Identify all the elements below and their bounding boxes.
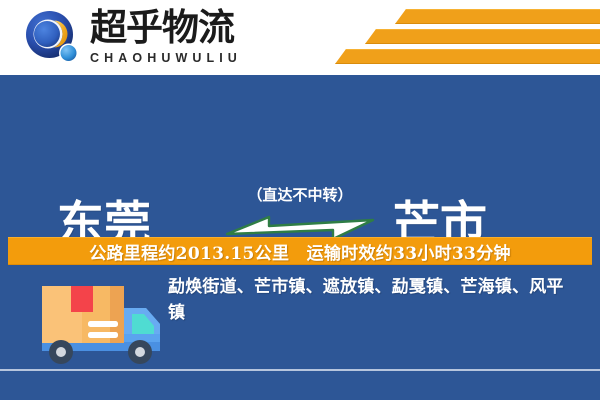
distance-duration-text: 公路里程约2013.15公里 运输时效约33小时33分钟 [89,239,511,264]
brand-text-block: 超乎物流 CHAOHUWULIU [90,7,242,65]
brand-name-cn: 超乎物流 [90,7,242,49]
coverage-section: 勐焕街道、芒市镇、遮放镇、勐戛镇、芒海镇、风平镇 [0,268,600,368]
brand-logo[interactable]: 超乎物流 CHAOHUWULIU [24,7,274,69]
circle-crescent-logo-icon [24,9,82,67]
covered-towns-text: 勐焕街道、芒市镇、遮放镇、勐戛镇、芒海镇、风平镇 [168,274,568,326]
stripe-2 [365,29,600,44]
stripe-3 [335,49,600,64]
delivery-truck-icon [28,274,168,366]
header-bar: 超乎物流 CHAOHUWULIU [0,0,600,75]
stripe-1 [395,9,600,24]
bottom-divider [0,369,600,371]
brand-name-en: CHAOHUWULIU [90,51,242,65]
distance-duration-bar: 公路里程约2013.15公里 运输时效约33小时33分钟 [8,237,592,265]
direct-route-note: （直达不中转） [225,185,375,205]
logistics-route-banner: 超乎物流 CHAOHUWULIU 东莞 （直达不中转） 【往返运输】 芒市 公路… [0,0,600,400]
route-band: 东莞 （直达不中转） 【往返运输】 芒市 [0,75,600,235]
orange-stripes-decoration [335,8,600,66]
